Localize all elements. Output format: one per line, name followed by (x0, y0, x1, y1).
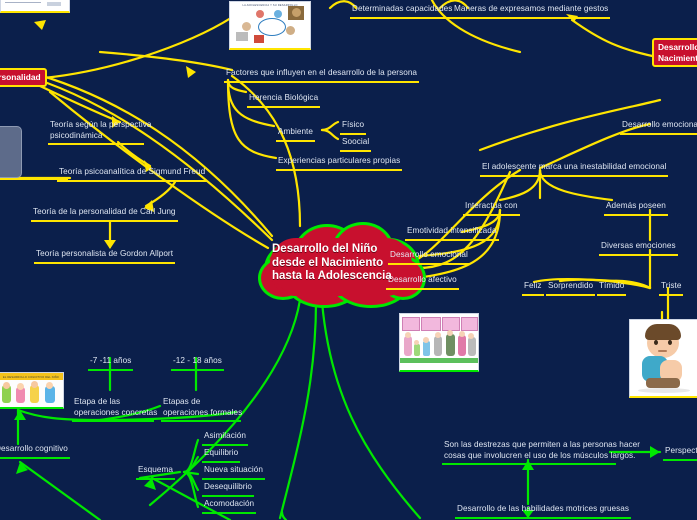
node-esquema[interactable]: Esquema (136, 465, 175, 480)
node-desarrollo-afectivo[interactable]: Desarrollo afectivo (386, 275, 459, 290)
node-edad-12-18[interactable]: -12 - 18 años (171, 356, 224, 371)
sad-boy-thumbnail[interactable] (629, 319, 697, 398)
node-maneras-gestos[interactable]: Maneras de expresamos mediante gestos (452, 4, 610, 19)
node-fisico[interactable]: Físico (340, 120, 366, 135)
pill-personalidad[interactable]: Personalidad (0, 68, 47, 87)
node-desarrollo-emocional-en[interactable]: Desarrollo emocional en (620, 120, 697, 135)
node-motrices-gruesas[interactable]: Desarrollo de las habilidades motrices g… (455, 504, 631, 519)
node-desequilibrio[interactable]: Desequilibrio (202, 482, 254, 497)
node-acomodacion[interactable]: Acomodación (202, 499, 256, 514)
node-feliz[interactable]: Feliz (522, 281, 544, 296)
node-teoria-jung[interactable]: Teoría de la personalidad de Carl Jung (31, 207, 178, 222)
life-stages-thumbnail[interactable] (399, 313, 479, 372)
node-asimilacion[interactable]: Asimilación (202, 431, 248, 446)
node-inestabilidad-emocional[interactable]: El adolescente marca una inestabilidad e… (480, 162, 668, 177)
diagram-thumbnail-top-left[interactable] (0, 0, 70, 13)
node-teoria-psicodinamica[interactable]: Teoría según la perspectiva psicodinámic… (48, 120, 144, 145)
node-perspectiva[interactable]: Perspectiva (663, 446, 697, 461)
mindmap-canvas[interactable]: Desarrollo del Niño desde el Nacimiento … (0, 0, 697, 520)
node-edad-7-11[interactable]: -7 -11 años (88, 356, 133, 371)
node-teoria-freud[interactable]: Teoría psicoanalítica de Sigmund Freud (57, 167, 207, 182)
node-determinadas-capacidades[interactable]: Determinadas capacidades (350, 4, 454, 19)
video-placeholder[interactable] (0, 126, 22, 178)
node-triste[interactable]: Triste (659, 281, 683, 296)
node-diversas-emociones[interactable]: Diversas emociones (599, 241, 678, 256)
node-teoria-allport[interactable]: Teoría personalista de Gordon Allport (34, 249, 175, 264)
cognitive-development-thumbnail[interactable]: EL DESARROLLO COGNITIVO DEL NIÑO (0, 372, 64, 409)
node-experiencias-particulares[interactable]: Experiencias particulares propias (276, 156, 402, 171)
node-desarrollo-cognitivo[interactable]: Desarrollo cognitivo (0, 444, 70, 459)
node-ambiente[interactable]: Ambiente (276, 127, 315, 142)
pill-desarrollo-nacimiento[interactable]: Desarrollo Nacimiento (652, 38, 697, 67)
node-operaciones-formales[interactable]: Etapas de operaciones formales (161, 397, 241, 422)
node-interactua-con[interactable]: Interactúa con (463, 201, 520, 216)
thumbnail-caption: EL DESARROLLO COGNITIVO DEL NIÑO (0, 374, 63, 379)
diagram-thumbnail-persona[interactable]: LA ADOLESCENCIA Y SU DESARROLLO (229, 1, 311, 50)
video-placeholder-underline (0, 178, 68, 180)
node-operaciones-concretas[interactable]: Etapa de las operaciones concretas (72, 397, 154, 422)
node-nueva-situacion[interactable]: Nueva situación (202, 465, 265, 480)
node-social[interactable]: Soocial (340, 137, 371, 152)
node-desarrollo-emocional[interactable]: Desarrollo emocional (388, 250, 470, 265)
node-timido[interactable]: Tímido (597, 281, 626, 296)
node-ademas-poseen[interactable]: Además poseen (604, 201, 668, 216)
node-sorprendido[interactable]: Sorprendido (546, 281, 595, 296)
node-herencia-biologica[interactable]: Herencia Biológica (247, 93, 320, 108)
node-destrezas-musculos[interactable]: Son las destrezas que permiten a las per… (442, 440, 616, 465)
node-emotividad-intensificada[interactable]: Emotividad intensificada (405, 226, 499, 241)
node-equilibrio[interactable]: Equilibrio (202, 448, 240, 463)
node-factores-desarrollo[interactable]: Factores que influyen en el desarrollo d… (224, 68, 419, 83)
